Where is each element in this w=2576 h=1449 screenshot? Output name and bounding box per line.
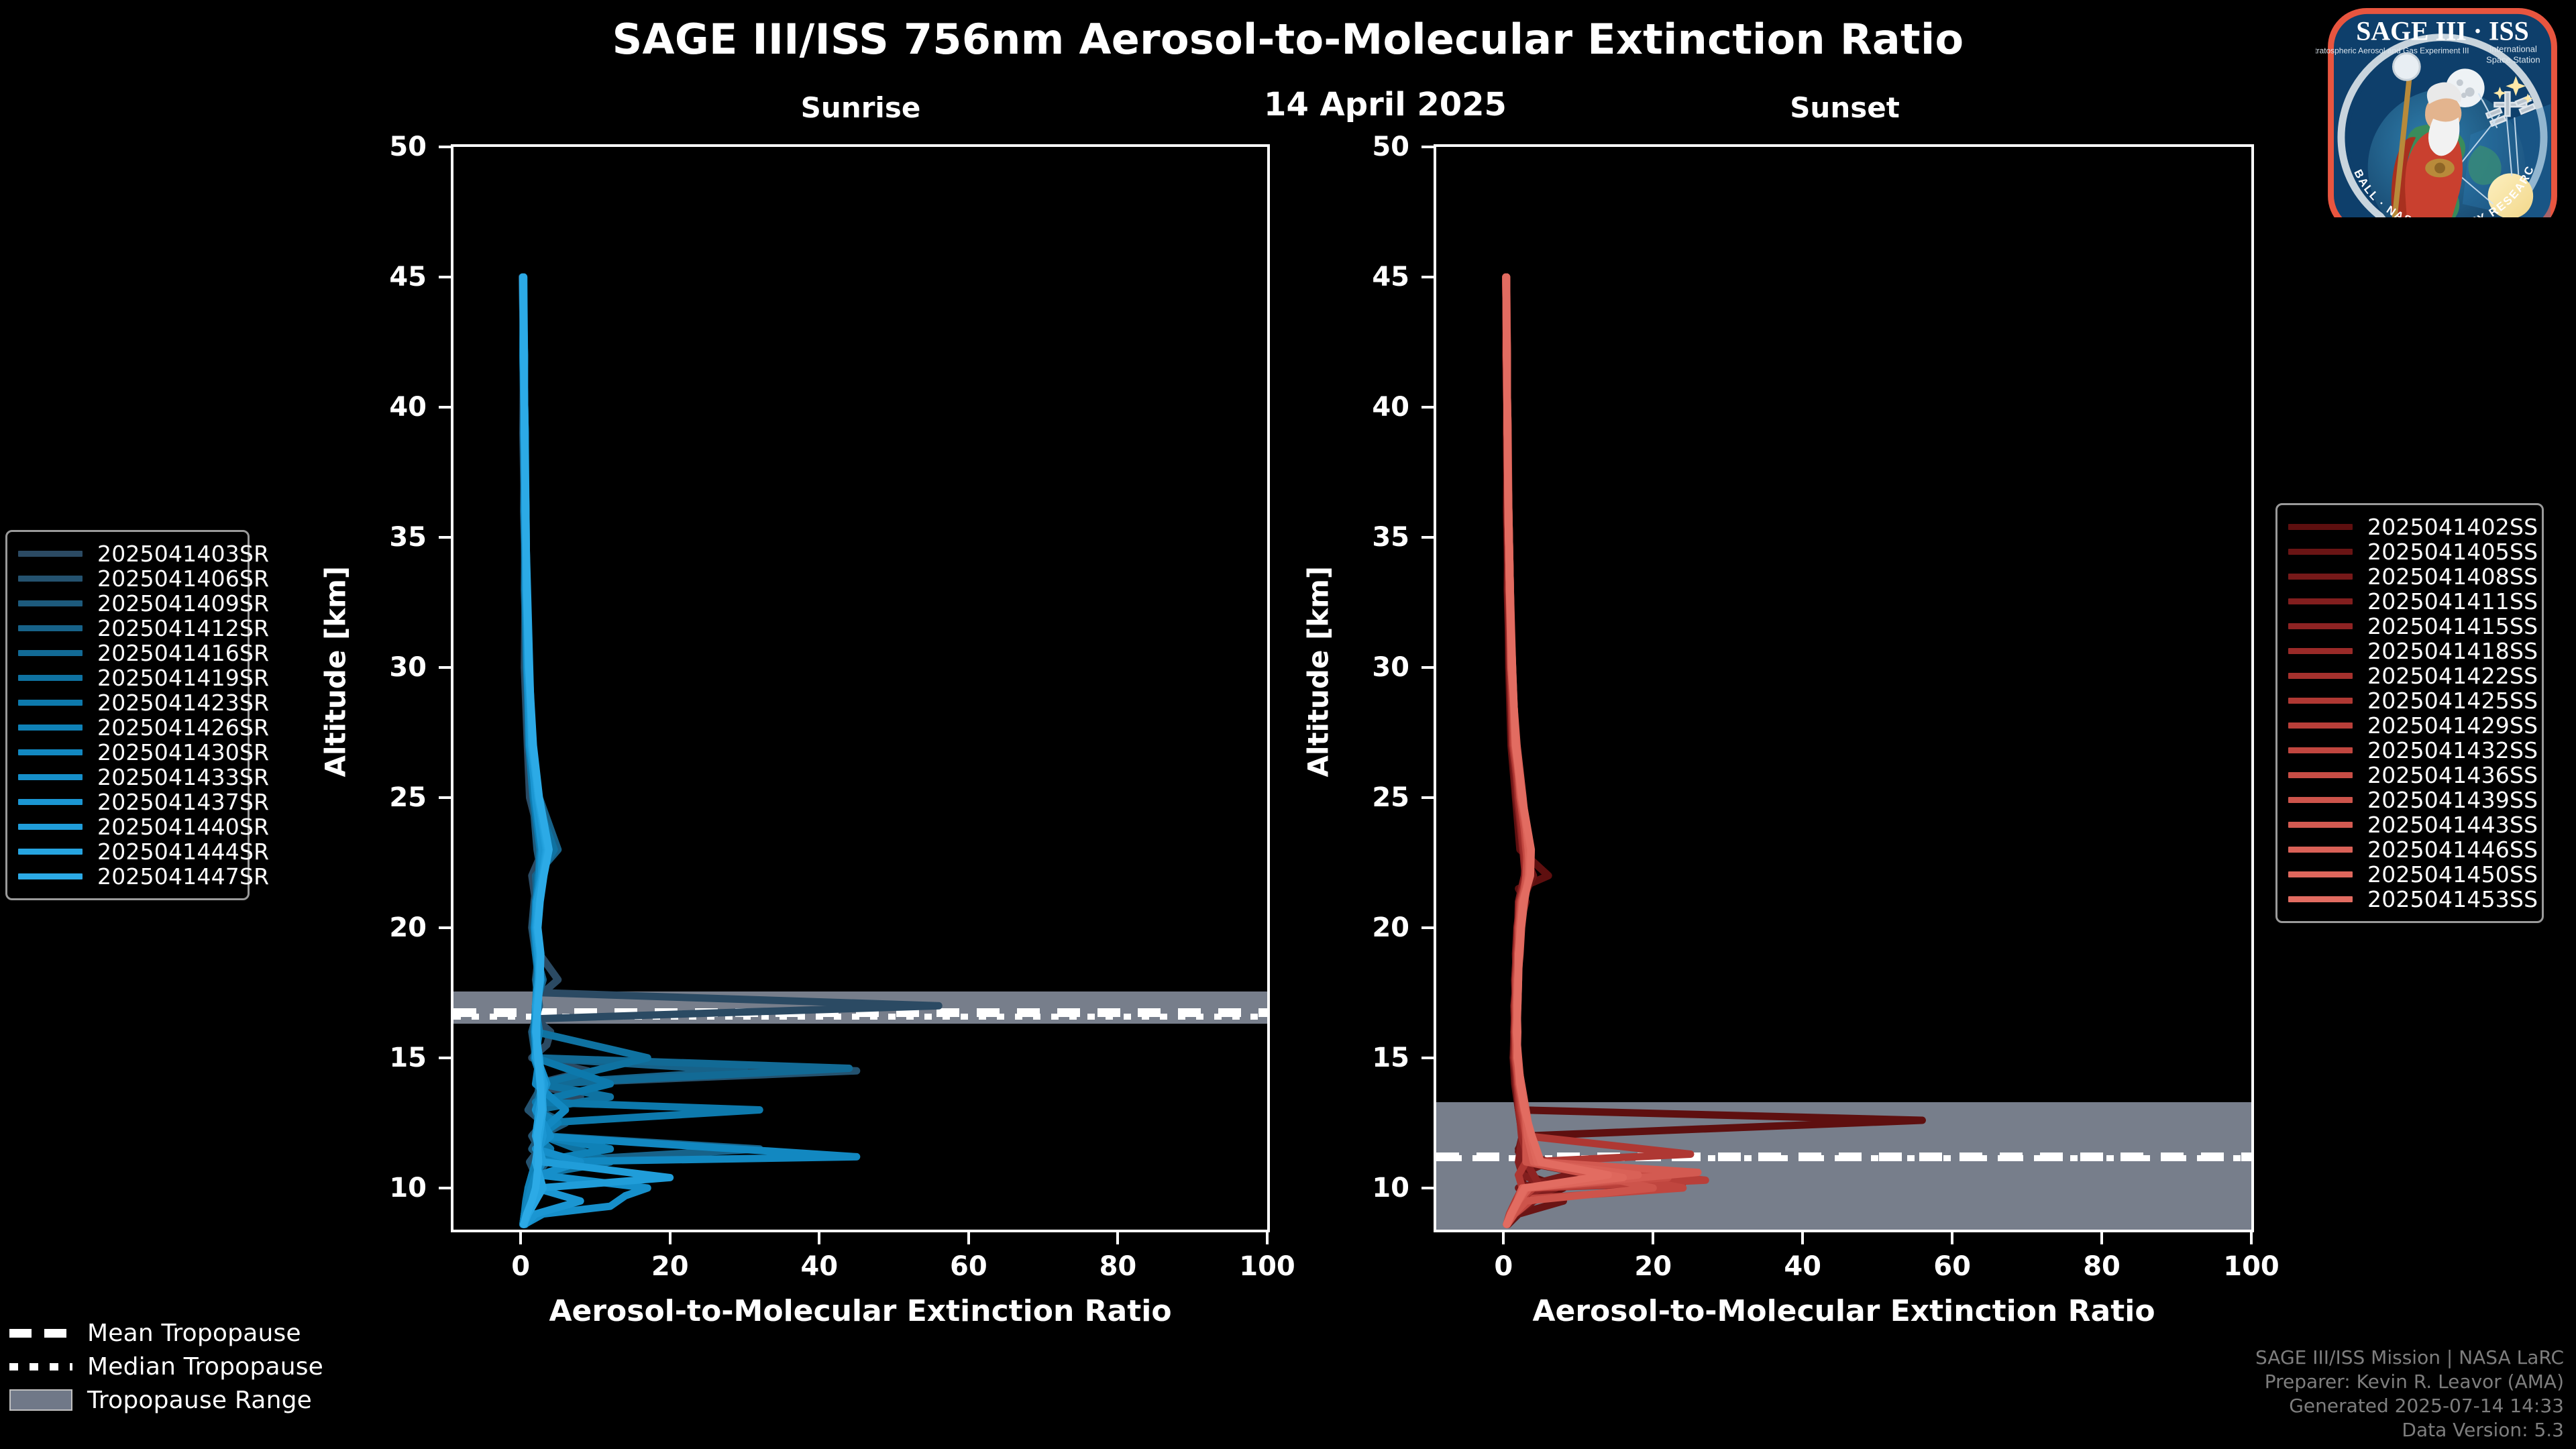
sunset-panel-title: Sunset xyxy=(1790,91,1900,124)
x-axis-tick-mark xyxy=(1652,1232,1654,1244)
credit-line-mission: SAGE III/ISS Mission | NASA LaRC xyxy=(2255,1346,2564,1370)
sunset-legend-color-swatch-icon xyxy=(2288,698,2353,704)
y-axis-tick-label: 10 xyxy=(1333,1173,1409,1203)
subtitle-row: Sunrise 14 April 2025 Sunset xyxy=(0,86,2576,126)
profile-line xyxy=(1507,277,1683,1224)
sunrise-legend-label: 2025041444SR xyxy=(97,839,269,865)
profile-line xyxy=(1506,277,1654,1224)
sunrise-legend-item[interactable]: 2025041412SR xyxy=(18,616,233,641)
y-axis-title: Altitude [km] xyxy=(1302,603,1335,777)
sunset-legend-item[interactable]: 2025041429SS xyxy=(2288,713,2527,738)
sunset-legend-label: 2025041436SS xyxy=(2367,762,2538,788)
credit-line-version: Data Version: 5.3 xyxy=(2255,1418,2564,1442)
sunset-data-curves xyxy=(1436,147,2251,1230)
x-axis-tick-label: 80 xyxy=(2083,1251,2121,1282)
x-axis-tick-label: 40 xyxy=(800,1251,838,1282)
sunrise-legend-color-swatch-icon xyxy=(18,576,83,582)
sunrise-legend-item[interactable]: 2025041409SR xyxy=(18,591,233,616)
x-axis-tick-mark xyxy=(2250,1232,2253,1244)
sunrise-legend-item[interactable]: 2025041426SR xyxy=(18,715,233,740)
y-axis-tick-label: 10 xyxy=(350,1173,427,1203)
y-axis-tick-label: 30 xyxy=(1333,652,1409,683)
sunrise-legend-color-swatch-icon xyxy=(18,824,83,830)
sunrise-legend-item[interactable]: 2025041440SR xyxy=(18,814,233,839)
x-axis-tick-mark xyxy=(967,1232,970,1244)
credit-line-preparer: Preparer: Kevin R. Leavor (AMA) xyxy=(2255,1370,2564,1394)
mean-tropopause-dash-icon xyxy=(9,1329,72,1338)
x-axis-tick-mark xyxy=(2100,1232,2103,1244)
sunset-legend-item[interactable]: 2025041418SS xyxy=(2288,639,2527,663)
tropopause-legend: Mean Tropopause Median Tropopause Tropop… xyxy=(9,1316,358,1417)
sunset-legend-item[interactable]: 2025041453SS xyxy=(2288,887,2527,912)
y-axis-tick-label: 50 xyxy=(350,131,427,162)
x-axis-tick-mark xyxy=(1801,1232,1804,1244)
sunset-legend-label: 2025041446SS xyxy=(2367,837,2538,863)
sunset-legend-item[interactable]: 2025041425SS xyxy=(2288,688,2527,713)
sunrise-panel-title: Sunrise xyxy=(801,91,921,124)
y-axis-tick-label: 50 xyxy=(1333,131,1409,162)
sunset-legend-color-swatch-icon xyxy=(2288,524,2353,530)
y-axis-tick-label: 40 xyxy=(1333,392,1409,423)
sunrise-legend-color-swatch-icon xyxy=(18,675,83,681)
sunrise-legend-label: 2025041423SR xyxy=(97,690,269,716)
patch-title: SAGE III · ISS xyxy=(2356,17,2528,46)
sunrise-legend-color-swatch-icon xyxy=(18,849,83,855)
sunset-legend-label: 2025041418SS xyxy=(2367,638,2538,664)
y-axis-tick-label: 45 xyxy=(1333,262,1409,292)
sunrise-legend-label: 2025041416SR xyxy=(97,640,269,666)
sunset-legend-label: 2025041439SS xyxy=(2367,787,2538,813)
sunrise-legend-label: 2025041447SR xyxy=(97,863,269,890)
y-axis-tick-mark xyxy=(1421,406,1434,409)
sunrise-legend-color-swatch-icon xyxy=(18,799,83,805)
y-axis-tick-mark xyxy=(439,796,451,799)
sunset-legend-item[interactable]: 2025041415SS xyxy=(2288,614,2527,639)
sunrise-legend-item[interactable]: 2025041403SR xyxy=(18,541,233,566)
sunrise-legend-item[interactable]: 2025041416SR xyxy=(18,641,233,665)
x-axis-tick-mark xyxy=(519,1232,522,1244)
sunset-legend-color-swatch-icon xyxy=(2288,673,2353,679)
y-axis-tick-mark xyxy=(1421,666,1434,669)
sunrise-legend-item[interactable]: 2025041423SR xyxy=(18,690,233,715)
profile-line xyxy=(1506,277,1698,1224)
profile-line xyxy=(1506,277,1706,1224)
y-axis-tick-mark xyxy=(439,536,451,539)
profile-line xyxy=(523,277,849,1224)
x-axis-tick-mark xyxy=(818,1232,820,1244)
sunrise-legend-item[interactable]: 2025041419SR xyxy=(18,665,233,690)
sunset-legend-color-swatch-icon xyxy=(2288,574,2353,580)
y-axis-tick-mark xyxy=(439,1057,451,1059)
sunset-legend-item[interactable]: 2025041439SS xyxy=(2288,788,2527,812)
x-axis-title: Aerosol-to-Molecular Extinction Ratio xyxy=(549,1294,1171,1328)
sunrise-legend-color-swatch-icon xyxy=(18,551,83,557)
sunset-legend-item[interactable]: 2025041405SS xyxy=(2288,539,2527,564)
sunset-legend-color-swatch-icon xyxy=(2288,772,2353,778)
y-axis-tick-label: 40 xyxy=(350,392,427,423)
sunset-legend-color-swatch-icon xyxy=(2288,648,2353,654)
profile-line xyxy=(1507,277,1690,1224)
x-axis-tick-mark xyxy=(1266,1232,1269,1244)
x-axis-tick-label: 0 xyxy=(511,1251,530,1282)
y-axis-tick-mark xyxy=(1421,146,1434,148)
sunrise-legend-label: 2025041406SR xyxy=(97,566,269,592)
sunset-legend-label: 2025041443SS xyxy=(2367,812,2538,838)
sunset-legend-label: 2025041432SS xyxy=(2367,737,2538,763)
y-axis-tick-mark xyxy=(439,926,451,929)
x-axis-tick-mark xyxy=(1502,1232,1505,1244)
x-axis-tick-label: 100 xyxy=(1239,1251,1295,1282)
sunrise-legend-label: 2025041426SR xyxy=(97,714,269,741)
sunset-legend-item[interactable]: 2025041432SS xyxy=(2288,738,2527,763)
sunrise-legend-item[interactable]: 2025041447SR xyxy=(18,864,233,889)
tropopause-range-swatch-icon xyxy=(9,1389,72,1411)
x-axis-tick-mark xyxy=(669,1232,672,1244)
y-axis-tick-label: 25 xyxy=(1333,782,1409,813)
y-axis-tick-mark xyxy=(1421,796,1434,799)
median-tropopause-dot-icon xyxy=(9,1363,72,1371)
y-axis-tick-label: 45 xyxy=(350,262,427,292)
profile-line xyxy=(1507,277,1654,1224)
sunset-legend-color-swatch-icon xyxy=(2288,822,2353,828)
sunrise-legend-label: 2025041412SR xyxy=(97,615,269,641)
sunset-legend-color-swatch-icon xyxy=(2288,797,2353,803)
x-axis-tick-mark xyxy=(1951,1232,1953,1244)
sunset-plot-area xyxy=(1434,144,2254,1232)
x-axis-tick-label: 100 xyxy=(2223,1251,2279,1282)
legend-item-mean-tropopause: Mean Tropopause xyxy=(9,1316,358,1350)
sunset-legend-item[interactable]: 2025041443SS xyxy=(2288,812,2527,837)
sunset-legend-color-swatch-icon xyxy=(2288,598,2353,604)
legend-item-tropopause-range: Tropopause Range xyxy=(9,1383,358,1417)
sunset-legend-item[interactable]: 2025041436SS xyxy=(2288,763,2527,788)
sunset-legend-label: 2025041425SS xyxy=(2367,688,2538,714)
sunrise-plot-area xyxy=(451,144,1270,1232)
legend-label-tropopause-range: Tropopause Range xyxy=(87,1387,312,1414)
y-axis-tick-label: 15 xyxy=(350,1042,427,1073)
sunrise-legend-label: 2025041403SR xyxy=(97,541,269,567)
sunset-legend-color-swatch-icon xyxy=(2288,722,2353,729)
x-axis-tick-label: 80 xyxy=(1099,1251,1137,1282)
x-axis-tick-label: 60 xyxy=(1933,1251,1971,1282)
y-axis-tick-mark xyxy=(1421,276,1434,278)
y-axis-tick-mark xyxy=(1421,536,1434,539)
y-axis-tick-mark xyxy=(1421,926,1434,929)
profile-line xyxy=(1507,277,1683,1224)
sunrise-legend-color-swatch-icon xyxy=(18,700,83,706)
sunset-legend[interactable]: 2025041402SS2025041405SS2025041408SS2025… xyxy=(2275,503,2544,923)
y-axis-tick-mark xyxy=(1421,1057,1434,1059)
sunset-legend-color-swatch-icon xyxy=(2288,623,2353,629)
sunset-legend-label: 2025041405SS xyxy=(2367,539,2538,565)
sunset-legend-item[interactable]: 2025041446SS xyxy=(2288,837,2527,862)
profile-line xyxy=(1506,277,1668,1224)
x-axis-tick-label: 60 xyxy=(950,1251,987,1282)
x-axis-tick-mark xyxy=(1116,1232,1119,1244)
sunrise-legend-item[interactable]: 2025041430SR xyxy=(18,740,233,765)
sunset-legend-item[interactable]: 2025041408SS xyxy=(2288,564,2527,589)
patch-subtitle-left: Stratospheric Aerosol and Gas Experiment… xyxy=(2316,46,2469,56)
sunset-legend-color-swatch-icon xyxy=(2288,896,2353,902)
sunrise-legend-label: 2025041409SR xyxy=(97,590,269,616)
sunset-legend-item[interactable]: 2025041422SS xyxy=(2288,663,2527,688)
y-axis-title: Altitude [km] xyxy=(319,603,352,777)
sunset-legend-label: 2025041408SS xyxy=(2367,563,2538,590)
sunset-legend-label: 2025041422SS xyxy=(2367,663,2538,689)
profile-line xyxy=(1507,277,1638,1224)
sunrise-legend-color-swatch-icon xyxy=(18,873,83,879)
credit-line-generated: Generated 2025-07-14 14:33 xyxy=(2255,1394,2564,1418)
x-axis-tick-label: 0 xyxy=(1494,1251,1513,1282)
y-axis-tick-label: 25 xyxy=(350,782,427,813)
sunset-legend-label: 2025041402SS xyxy=(2367,514,2538,540)
y-axis-tick-label: 20 xyxy=(350,912,427,943)
sunset-legend-label: 2025041415SS xyxy=(2367,613,2538,639)
y-axis-tick-label: 20 xyxy=(1333,912,1409,943)
x-axis-title: Aerosol-to-Molecular Extinction Ratio xyxy=(1532,1294,2155,1328)
sunrise-legend-label: 2025041433SR xyxy=(97,764,269,790)
sunrise-legend[interactable]: 2025041403SR2025041406SR2025041409SR2025… xyxy=(5,530,250,900)
y-axis-tick-mark xyxy=(439,406,451,409)
sunrise-legend-color-swatch-icon xyxy=(18,650,83,656)
sunrise-legend-item[interactable]: 2025041433SR xyxy=(18,765,233,790)
x-axis-tick-label: 40 xyxy=(1784,1251,1821,1282)
profile-line xyxy=(1506,277,1923,1224)
sunset-legend-label: 2025041411SS xyxy=(2367,588,2538,614)
sunrise-legend-color-swatch-icon xyxy=(18,724,83,731)
y-axis-tick-mark xyxy=(439,146,451,148)
legend-item-median-tropopause: Median Tropopause xyxy=(9,1350,358,1383)
date-title: 14 April 2025 xyxy=(1264,86,1507,123)
sage-iii-iss-mission-patch-icon: BALL · NASA LANGLEY RESEARCH CENTER · TA… xyxy=(2316,4,2569,217)
sunrise-legend-color-swatch-icon xyxy=(18,774,83,780)
profile-line xyxy=(1507,277,1609,1224)
y-axis-tick-label: 35 xyxy=(1333,522,1409,553)
sunrise-data-curves xyxy=(453,147,1267,1230)
sunrise-legend-item[interactable]: 2025041406SR xyxy=(18,566,233,591)
sunset-legend-label: 2025041453SS xyxy=(2367,886,2538,912)
sunrise-legend-label: 2025041419SR xyxy=(97,665,269,691)
sunset-legend-item[interactable]: 2025041411SS xyxy=(2288,589,2527,614)
sunrise-legend-color-swatch-icon xyxy=(18,600,83,606)
sunrise-legend-label: 2025041437SR xyxy=(97,789,269,815)
sunset-legend-item[interactable]: 2025041450SS xyxy=(2288,862,2527,887)
credit-block: SAGE III/ISS Mission | NASA LaRC Prepare… xyxy=(2255,1346,2564,1442)
y-axis-tick-mark xyxy=(439,276,451,278)
y-axis-tick-mark xyxy=(439,1187,451,1189)
y-axis-tick-label: 30 xyxy=(350,652,427,683)
sunrise-legend-label: 2025041440SR xyxy=(97,814,269,840)
sunrise-legend-label: 2025041430SR xyxy=(97,739,269,765)
patch-subtitle-right-2: Space Station xyxy=(2486,54,2540,64)
y-axis-tick-mark xyxy=(1421,1187,1434,1189)
sunset-legend-color-swatch-icon xyxy=(2288,847,2353,853)
figure-root: SAGE III/ISS 756nm Aerosol-to-Molecular … xyxy=(0,0,2576,1449)
sunset-legend-color-swatch-icon xyxy=(2288,871,2353,877)
y-axis-tick-mark xyxy=(439,666,451,669)
sunrise-legend-item[interactable]: 2025041437SR xyxy=(18,790,233,814)
sunset-legend-label: 2025041429SS xyxy=(2367,712,2538,739)
x-axis-tick-label: 20 xyxy=(651,1251,689,1282)
patch-subtitle-right-1: International xyxy=(2489,44,2537,54)
x-axis-tick-label: 20 xyxy=(1634,1251,1672,1282)
sunrise-legend-color-swatch-icon xyxy=(18,625,83,631)
sunrise-legend-item[interactable]: 2025041444SR xyxy=(18,839,233,864)
legend-label-median-tropopause: Median Tropopause xyxy=(87,1353,323,1381)
sunset-legend-color-swatch-icon xyxy=(2288,549,2353,555)
sunset-legend-color-swatch-icon xyxy=(2288,747,2353,753)
legend-label-mean-tropopause: Mean Tropopause xyxy=(87,1320,301,1347)
y-axis-tick-label: 15 xyxy=(1333,1042,1409,1073)
sunset-legend-item[interactable]: 2025041402SS xyxy=(2288,515,2527,539)
y-axis-tick-label: 35 xyxy=(350,522,427,553)
sunset-legend-label: 2025041450SS xyxy=(2367,861,2538,888)
page-title: SAGE III/ISS 756nm Aerosol-to-Molecular … xyxy=(0,15,2576,64)
sunrise-legend-color-swatch-icon xyxy=(18,749,83,755)
